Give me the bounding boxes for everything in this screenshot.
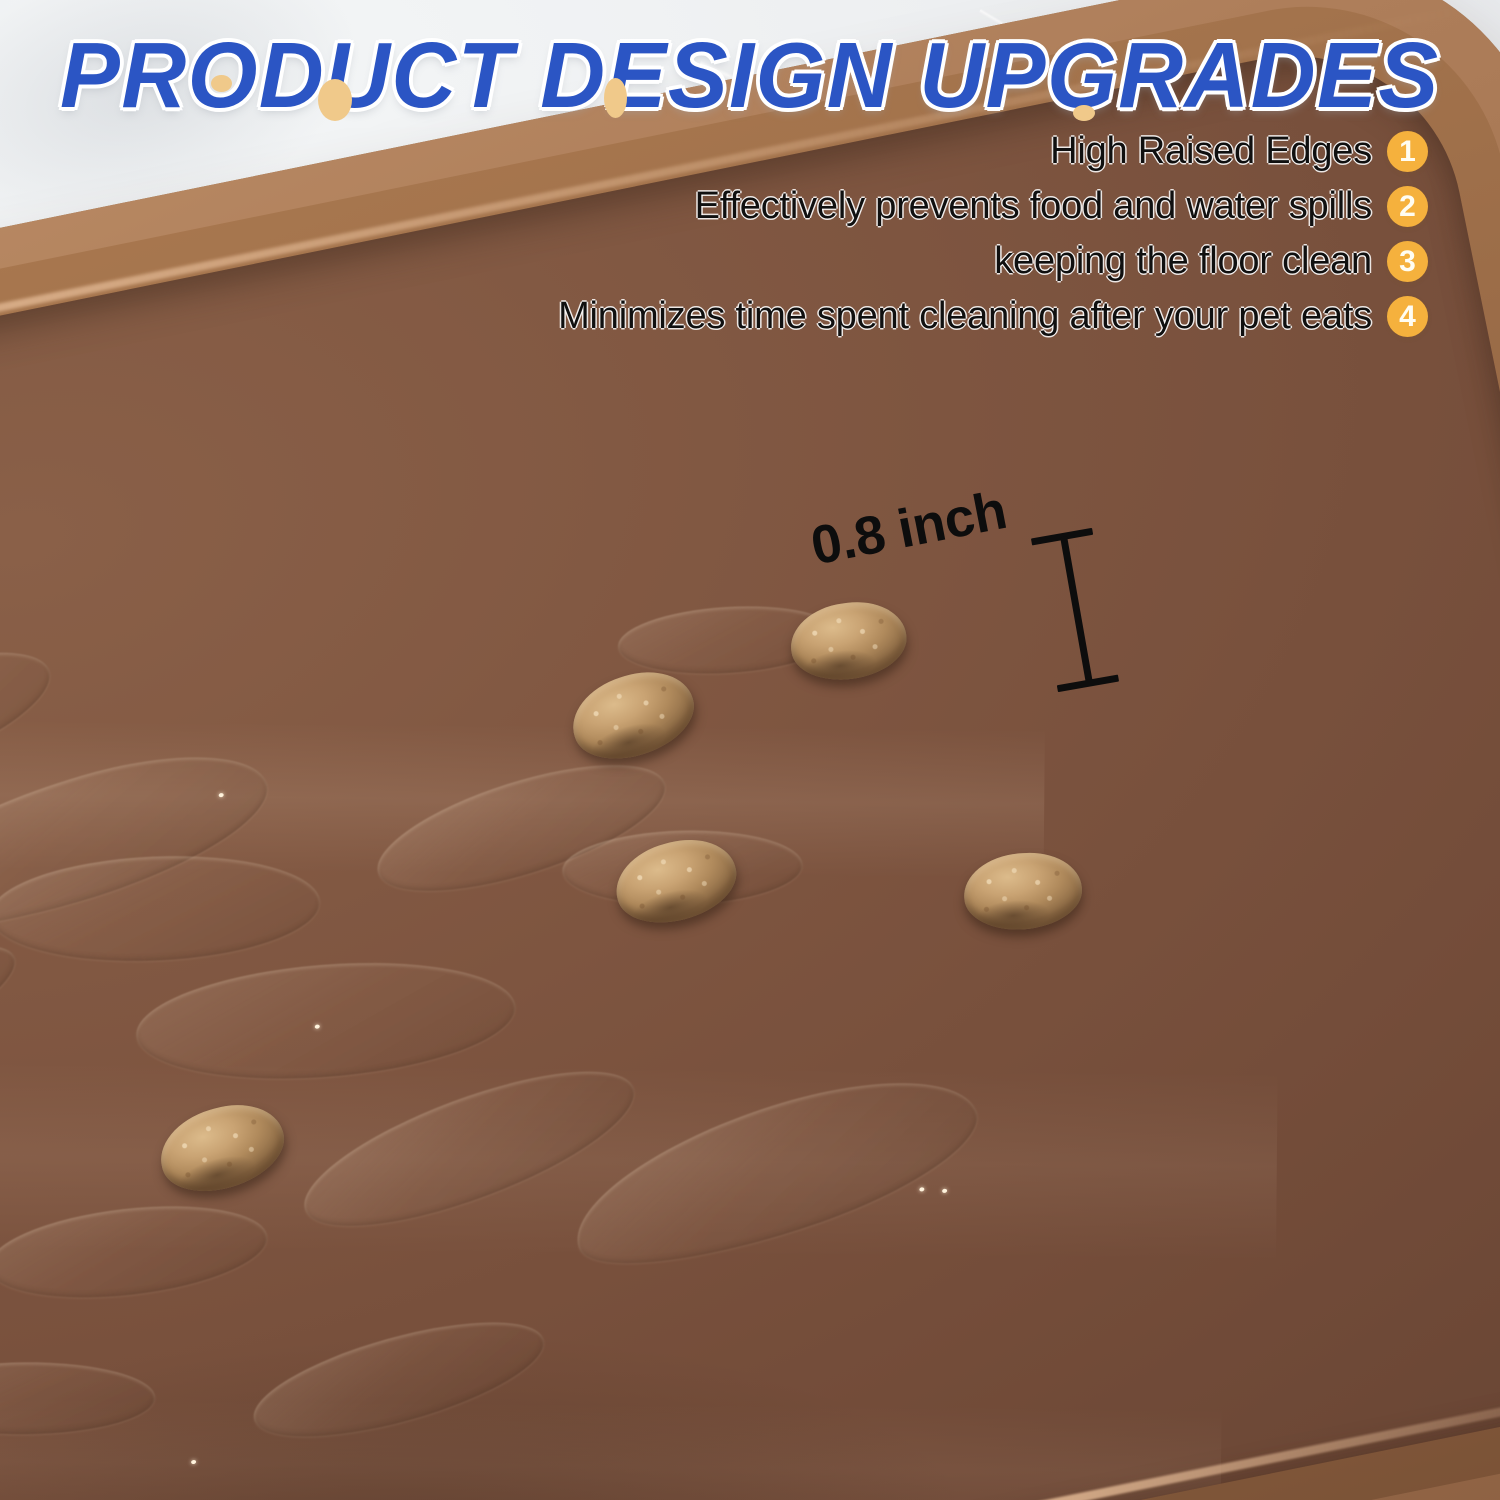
floor-shading (0, 1272, 1099, 1500)
feature-number-badge: 1 (1387, 131, 1428, 172)
feature-item: High Raised Edges 1 (368, 124, 1428, 179)
feature-item: Effectively prevents food and water spil… (368, 179, 1428, 234)
feature-label: keeping the floor clean (994, 240, 1372, 283)
feature-number-badge: 2 (1387, 186, 1428, 227)
dimension-annotation: 0.8 inch (812, 498, 1112, 718)
dimension-bar (1060, 536, 1093, 683)
feature-number-badge: 4 (1387, 296, 1428, 337)
feature-item: Minimizes time spent cleaning after your… (368, 289, 1428, 344)
product-feature-image: 0.8 inch PRODUCT DESIGN UPGRADES High Ra… (0, 0, 1500, 1500)
feature-label: High Raised Edges (1050, 130, 1372, 173)
feature-label: Effectively prevents food and water spil… (695, 185, 1372, 228)
feature-item: keeping the floor clean 3 (368, 234, 1428, 289)
dimension-ibeam-icon (1031, 528, 1119, 692)
feature-number-badge: 3 (1387, 241, 1428, 282)
kibble-shadow (623, 879, 717, 934)
kibble-shadow (969, 895, 1056, 934)
feature-list: High Raised Edges 1 Effectively prevents… (368, 124, 1428, 344)
feature-label: Minimizes time spent cleaning after your… (558, 295, 1372, 338)
